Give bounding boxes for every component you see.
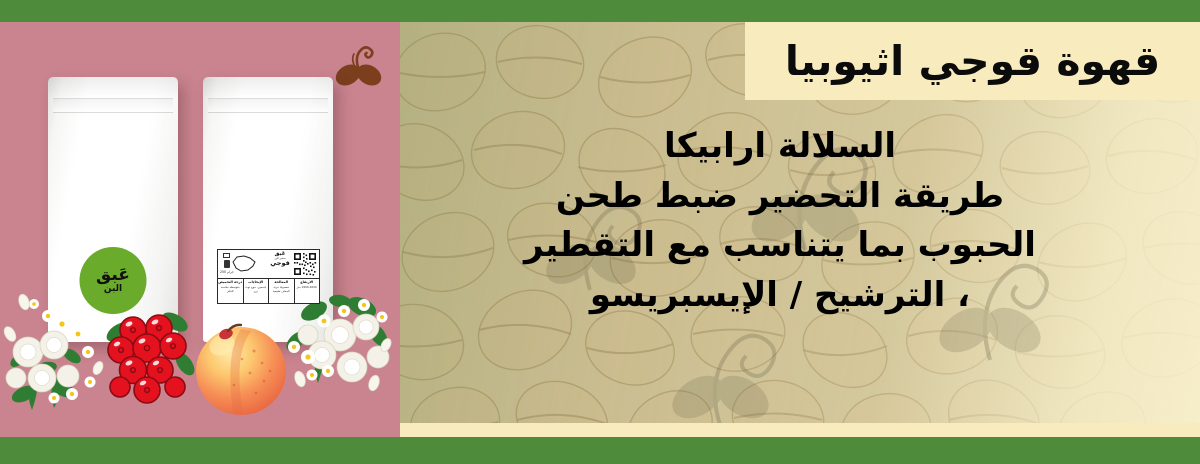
label-column-value: مغسولة خزنة الجفاف طبيعية	[269, 285, 294, 293]
label-attributes-table: الارتفاع 1900-2000 متر المعالجة مغسولة خ…	[218, 278, 319, 303]
red-berries-icon	[103, 302, 198, 412]
label-column-value: متوسطة مناسبة للفلتر	[218, 285, 243, 293]
coffee-bean-logo-icon	[326, 30, 390, 92]
bottom-green-bar	[0, 437, 1200, 464]
label-column: الإيحاءات ياسمين، خوخ توت بري	[243, 279, 269, 303]
product-banner: عَبق البن 250 جرام عَبق	[0, 0, 1200, 464]
weight-icon	[224, 260, 230, 268]
label-column: الارتفاع 1900-2000 متر	[294, 279, 320, 303]
product-image-panel: عَبق البن 250 جرام عَبق	[0, 22, 400, 437]
bottom-cream-band	[400, 423, 1200, 437]
top-green-bar	[0, 0, 1200, 22]
text-content-panel: قهوة قوجي اثيوبيا السلالة ارابيكا طريقة …	[400, 22, 1200, 437]
label-column: درجة التحميص متوسطة مناسبة للفلتر	[218, 279, 243, 303]
bag-logo-main-text: عَبق	[96, 267, 130, 284]
description-line: السلالة ارابيكا	[400, 122, 1160, 172]
description-line: ، الترشيح / الإيسبريسو	[400, 271, 1160, 321]
label-column-value: ياسمين، خوخ توت بري	[244, 285, 269, 293]
bag-brand-logo: عَبق البن	[80, 247, 147, 314]
label-column-header: درجة التحميص	[218, 280, 242, 284]
jasmine-flowers-icon	[278, 287, 396, 412]
label-column-value: 1900-2000 متر	[297, 285, 317, 289]
ethiopia-map-icon	[231, 253, 257, 273]
qr-code-icon	[293, 252, 317, 276]
label-header: 250 جرام عَبق سفير البن قوجي	[218, 250, 319, 278]
label-brand-bottom: قوجي	[265, 260, 295, 267]
label-brand-mark: عَبق سفير البن قوجي	[265, 252, 295, 267]
title-banner: قهوة قوجي اثيوبيا	[745, 22, 1200, 100]
peach-fruit-icon	[192, 315, 290, 418]
description-text-block: السلالة ارابيكا طريقة التحضير ضبط طحن ال…	[400, 122, 1180, 321]
label-column-header: المعالجة	[274, 280, 288, 284]
label-column: المعالجة مغسولة خزنة الجفاف طبيعية	[268, 279, 294, 303]
label-column-header: الإيحاءات	[248, 280, 263, 284]
label-column-header: الارتفاع	[300, 280, 313, 284]
bag-logo-sub-text: البن	[104, 285, 122, 294]
box-icon	[223, 253, 230, 258]
description-line: الحبوب بما يتناسب مع التقطير	[400, 221, 1160, 271]
coffee-bag-back: 250 جرام عَبق سفير البن قوجي	[203, 77, 333, 342]
description-line: طريقة التحضير ضبط طحن	[400, 172, 1160, 222]
product-info-label: 250 جرام عَبق سفير البن قوجي	[217, 249, 320, 304]
page-title: قهوة قوجي اثيوبيا	[785, 37, 1160, 85]
